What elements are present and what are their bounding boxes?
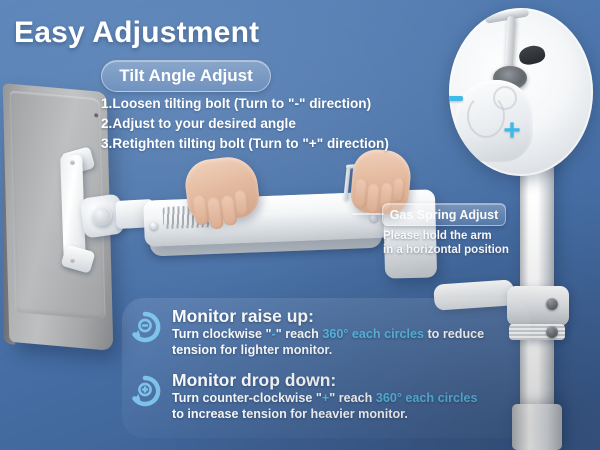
instruction-block-drop: Monitor drop down: Turn counter-clockwis…: [128, 370, 478, 422]
minus-marker-icon: [449, 96, 463, 101]
inset-dark-cap: [517, 43, 546, 66]
instruction-body-drop: Turn counter-clockwise "+" reach 360° ea…: [172, 391, 478, 422]
instruction-heading-drop: Monitor drop down:: [172, 370, 478, 391]
drop-line1-pre: Turn counter-clockwise ": [172, 391, 322, 405]
arm-pin-right: [370, 214, 378, 222]
instruction-heading-raise: Monitor raise up:: [172, 306, 484, 327]
instruction-body-raise: Turn clockwise "-" reach 360° each circl…: [172, 327, 484, 358]
drop-line1-mid: " reach: [329, 391, 376, 405]
raise-line1-mid: " reach: [276, 327, 323, 341]
drop-line1-accent: 360° each circles: [376, 391, 478, 405]
gas-spring-caption-line-1: Please hold the arm: [383, 229, 509, 243]
gas-spring-adjust-badge: Gas Spring Adjust: [382, 203, 506, 226]
plus-marker-icon: +: [501, 120, 523, 142]
tilt-steps-list: 1.Loosen tilting bolt (Turn to "-" direc…: [101, 94, 389, 154]
gas-spring-caption-line-2: in a horizontal position: [383, 243, 509, 257]
gas-spring-adjust-badge-label: Gas Spring Adjust: [390, 208, 499, 222]
gas-spring-leader-line: [352, 213, 384, 215]
raise-line1-post: to reduce: [424, 327, 484, 341]
rotate-plus-icon: [128, 374, 162, 408]
raise-line1-accent: 360° each circles: [322, 327, 424, 341]
gas-spring-closeup-inset: +: [449, 8, 593, 176]
instruction-text-raise: Monitor raise up: Turn clockwise "-" rea…: [172, 306, 484, 358]
tilt-step-1: 1.Loosen tilting bolt (Turn to "-" direc…: [101, 94, 389, 114]
instruction-graphic: + Easy Adjustment Tilt Angle Adjust 1.Lo…: [0, 0, 600, 450]
tilt-hub: [92, 206, 112, 226]
instruction-block-raise: Monitor raise up: Turn clockwise "-" rea…: [128, 306, 484, 358]
collar-screw-lower: [546, 326, 558, 338]
tilt-angle-adjust-badge: Tilt Angle Adjust: [101, 60, 271, 92]
left-hand: [182, 154, 261, 224]
inset-emboss-circle: [493, 86, 517, 110]
tilt-step-2: 2.Adjust to your desired angle: [101, 114, 389, 134]
page-title: Easy Adjustment: [14, 16, 259, 50]
instruction-text-drop: Monitor drop down: Turn counter-clockwis…: [172, 370, 478, 422]
rotate-minus-icon: [128, 310, 162, 344]
collar-screw-upper: [546, 298, 558, 310]
arm-pin-left: [150, 222, 158, 230]
vesa-screw-top: [70, 160, 75, 165]
tilt-angle-adjust-badge-label: Tilt Angle Adjust: [119, 66, 252, 86]
gas-spring-caption: Please hold the arm in a horizontal posi…: [383, 229, 509, 257]
raise-line2: tension for lighter monitor.: [172, 343, 484, 359]
raise-line1-pre: Turn clockwise ": [172, 327, 272, 341]
tilt-step-3: 3.Retighten tilting bolt (Turn to "+" di…: [101, 134, 389, 154]
vesa-screw-bottom: [70, 258, 75, 263]
drop-line2: to increase tension for heavier monitor.: [172, 407, 478, 423]
